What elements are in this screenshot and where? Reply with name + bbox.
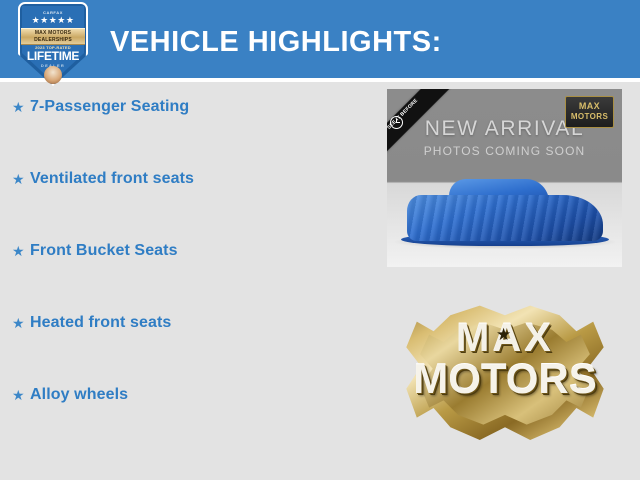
car-cover-folds [407, 195, 603, 241]
badge-mascot-icon [44, 66, 62, 84]
badge-ribbon: MAX MOTORS DEALERSHIPS [21, 28, 85, 45]
star-bullet-icon: ★ [12, 312, 30, 334]
star-bullet-icon: ★ [12, 168, 30, 190]
badge-stars-icon: ★★★★★ [18, 15, 88, 25]
page-title: VEHICLE HIGHLIGHTS: [110, 25, 442, 59]
header-divider [0, 78, 640, 82]
clock-icon [390, 116, 403, 129]
slide: CARFAX ★★★★★ MAX MOTORS DEALERSHIPS 2023… [0, 0, 640, 480]
vehicle-photo-placeholder[interactable]: NEW ARRIVAL PHOTOS COMING SOON SEE IT BE… [387, 89, 622, 267]
badge-dealer-name-line1: MAX MOTORS [21, 30, 85, 36]
list-item: ★ Ventilated front seats [0, 168, 372, 240]
list-item: ★ Heated front seats [0, 312, 372, 384]
highlight-label: Alloy wheels [30, 384, 128, 406]
vehicle-highlights-list: ★ 7-Passenger Seating ★ Ventilated front… [0, 96, 372, 456]
star-bullet-icon: ★ [12, 240, 30, 262]
watermark-line2: MOTORS [566, 112, 613, 121]
badge-lifetime-label: LIFETIME [18, 50, 88, 63]
logo-star-icon: ★ [496, 326, 511, 343]
carfax-lifetime-dealer-badge: CARFAX ★★★★★ MAX MOTORS DEALERSHIPS 2023… [18, 2, 88, 86]
badge-dealer-name-line2: DEALERSHIPS [21, 37, 85, 43]
list-item: ★ 7-Passenger Seating [0, 96, 372, 168]
highlight-label: Heated front seats [30, 312, 171, 334]
photos-coming-soon-subline: PHOTOS COMING SOON [387, 144, 622, 158]
star-bullet-icon: ★ [12, 384, 30, 406]
max-motors-watermark: MAX MOTORS [565, 96, 614, 128]
covered-car-illustration [407, 179, 603, 241]
list-item: ★ Alloy wheels [0, 384, 372, 456]
highlight-label: Ventilated front seats [30, 168, 194, 190]
star-bullet-icon: ★ [12, 96, 30, 118]
watermark-line1: MAX [566, 101, 613, 111]
list-item: ★ Front Bucket Seats [0, 240, 372, 312]
highlight-label: Front Bucket Seats [30, 240, 178, 262]
logo-line2: MOTORS [400, 358, 610, 400]
max-motors-logo: MAX ★ MOTORS [400, 296, 610, 456]
highlight-label: 7-Passenger Seating [30, 96, 189, 118]
